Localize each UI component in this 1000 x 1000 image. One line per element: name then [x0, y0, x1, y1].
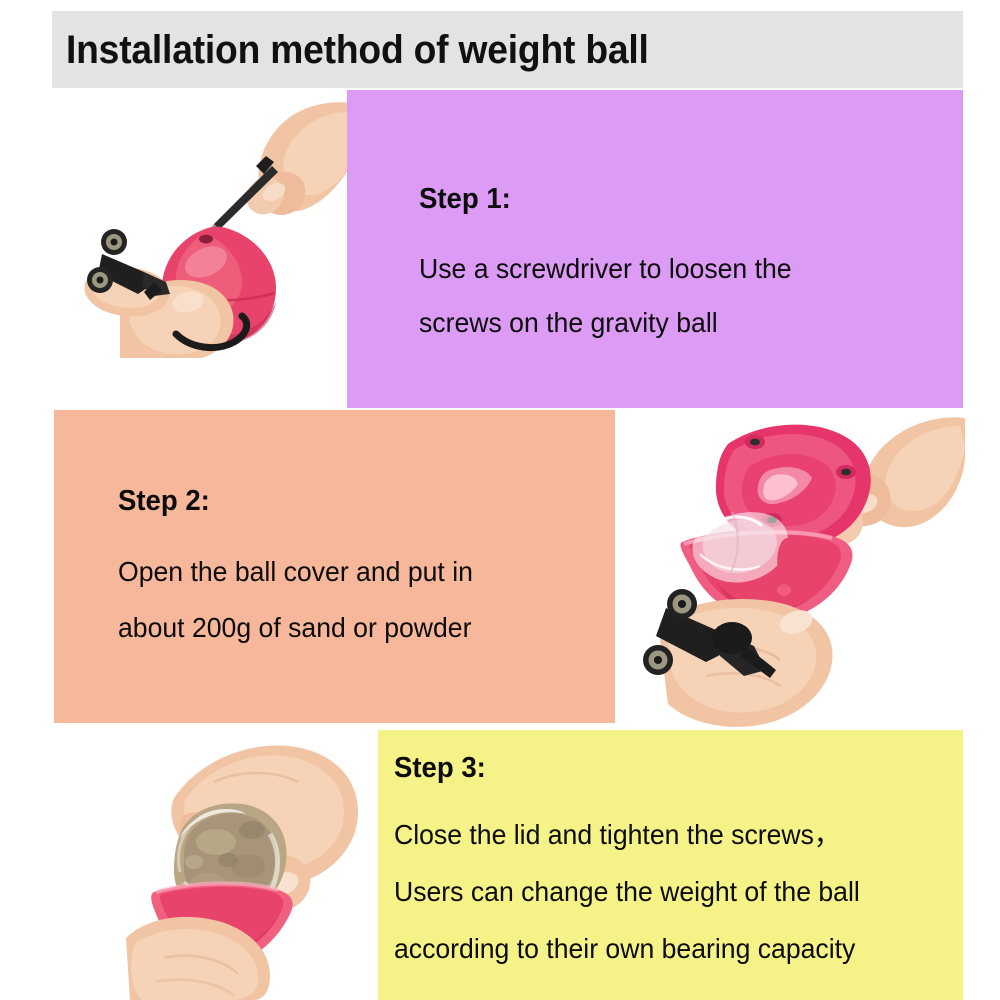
step-3-line-1: Close the lid and tighten the screws， [394, 806, 860, 863]
step-2-text: Open the ball cover and put in about 200… [118, 544, 473, 656]
step-1-label: Step 1: [419, 183, 511, 216]
step-2-photo [620, 408, 965, 730]
step-1-line-2: screws on the gravity ball [419, 296, 792, 350]
step-1-panel: Step 1: Use a screwdriver to loosen the … [347, 90, 963, 408]
step-2-panel: Step 2: Open the ball cover and put in a… [54, 410, 615, 723]
step-1-photo [58, 96, 358, 358]
infographic-page: Installation method of weight ball [0, 0, 1000, 1000]
step-2-line-1: Open the ball cover and put in [118, 544, 473, 600]
step-1-text: Use a screwdriver to loosen the screws o… [419, 242, 792, 350]
step-3-label: Step 3: [394, 752, 486, 785]
step-1-line-1: Use a screwdriver to loosen the [419, 242, 792, 296]
step-3-text: Close the lid and tighten the screws， Us… [394, 806, 860, 977]
step-3-panel: Step 3: Close the lid and tighten the sc… [378, 730, 963, 1000]
step-3-line-3: according to their own bearing capacity [394, 920, 860, 977]
step-3-photo [120, 742, 388, 1000]
page-title: Installation method of weight ball [66, 19, 894, 81]
step-3-line-2: Users can change the weight of the ball [394, 863, 860, 920]
step-2-label: Step 2: [118, 485, 210, 518]
step-2-line-2: about 200g of sand or powder [118, 600, 473, 656]
